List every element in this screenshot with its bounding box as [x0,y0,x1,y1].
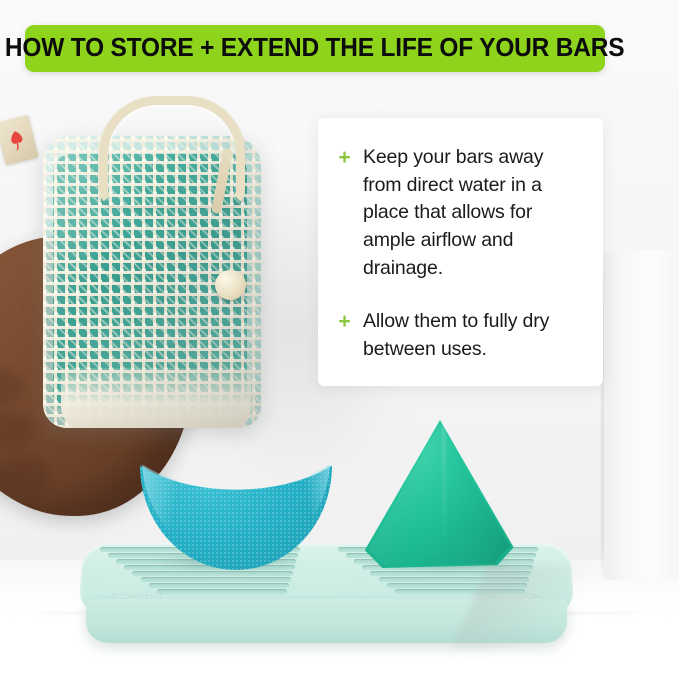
tips-card: +Keep your bars away from direct water i… [318,118,603,386]
crescent-soap-bar [140,436,332,570]
tray-drain-slot [149,583,290,588]
plus-bullet-icon: + [336,311,353,332]
triangle-bar-face-shading [364,424,516,566]
header-banner: HOW TO STORE + EXTEND THE LIFE OF YOUR B… [25,25,605,72]
tip-text: Allow them to fully dry between uses. [363,308,575,363]
triangle-soap-bar [360,420,520,568]
tip-text: Keep your bars away from direct water in… [363,144,575,282]
triangle-bar-edge-highlight [443,424,445,558]
bag-drawstring-bead [215,270,246,300]
tulip-flower-icon [6,127,29,153]
tray-drain-slot [141,577,292,582]
tips-list: +Keep your bars away from direct water i… [336,144,589,364]
product-infographic: HOW TO STORE + EXTEND THE LIFE OF YOUR B… [0,0,679,679]
plus-bullet-icon: + [336,147,353,168]
tip-item: +Allow them to fully dry between uses. [336,308,589,363]
header-banner-title: HOW TO STORE + EXTEND THE LIFE OF YOUR B… [5,36,624,62]
tip-item: +Keep your bars away from direct water i… [336,144,589,282]
soap-saver-bag [35,96,275,436]
background-container [604,250,679,580]
